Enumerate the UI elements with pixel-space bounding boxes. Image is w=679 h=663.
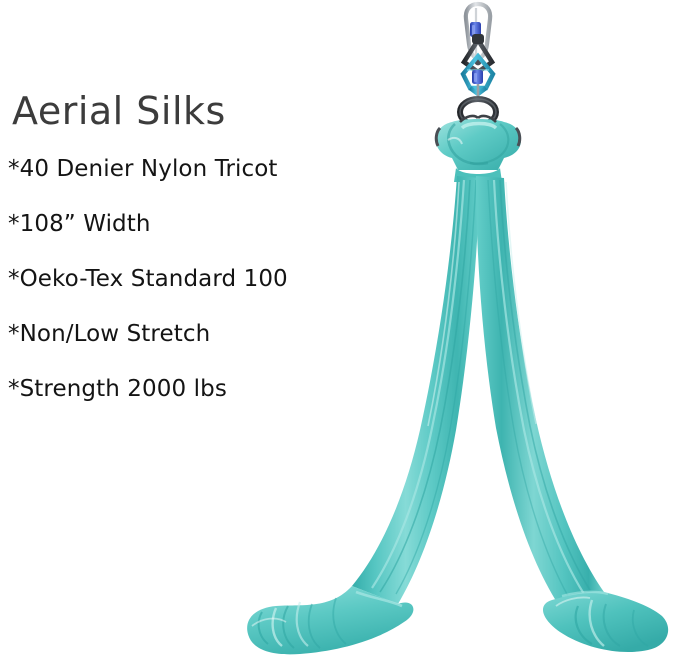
- silk-knot: [436, 116, 521, 182]
- o-ring-icon: [460, 99, 496, 125]
- teal-carabiner-icon: [463, 56, 493, 94]
- spec-item-width: *108” Width: [0, 213, 380, 236]
- spec-item-standard: *Oeko-Tex Standard 100: [0, 268, 380, 291]
- silk-left-pool: [247, 586, 413, 654]
- page-title: Aerial Silks: [0, 92, 380, 130]
- swivel-icon: [464, 34, 492, 72]
- product-text-panel: Aerial Silks *40 Denier Nylon Tricot *10…: [0, 92, 380, 433]
- silk-right-pool: [543, 592, 668, 652]
- spec-item-stretch: *Non/Low Stretch: [0, 323, 380, 346]
- spec-item-denier: *40 Denier Nylon Tricot: [0, 158, 380, 181]
- carabiner-lock-sleeve: [470, 22, 481, 37]
- product-image-card: Aerial Silks *40 Denier Nylon Tricot *10…: [0, 0, 679, 663]
- locking-carabiner-icon: [466, 4, 490, 59]
- spec-item-strength: *Strength 2000 lbs: [0, 378, 380, 401]
- silk-right-column: [476, 176, 604, 610]
- rigging-hardware: [460, 4, 496, 125]
- blue-connector-icon: [472, 70, 483, 96]
